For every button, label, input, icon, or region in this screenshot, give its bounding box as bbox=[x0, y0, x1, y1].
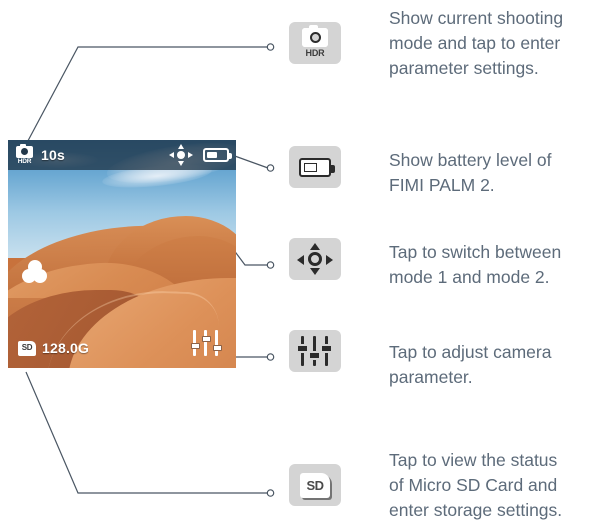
osd-right-group bbox=[170, 145, 229, 165]
leader-line-shooting-mode bbox=[22, 47, 268, 152]
sd-card-label: SD bbox=[306, 479, 323, 492]
annotation-text-shooting-mode: Show current shooting mode and tap to en… bbox=[389, 6, 613, 81]
osd-left-group: HDR 10s bbox=[15, 146, 65, 165]
leader-endpoint-gimbal bbox=[267, 262, 273, 268]
battery-icon bbox=[299, 158, 331, 177]
arrow-up-icon bbox=[310, 243, 320, 250]
arrow-left-icon bbox=[169, 152, 174, 158]
arrow-right-icon bbox=[188, 152, 193, 158]
timer-value: 10s bbox=[41, 147, 65, 163]
slider-track bbox=[215, 330, 218, 356]
slider-knob bbox=[298, 344, 307, 353]
filter-circle-right bbox=[33, 269, 47, 283]
slider-knob bbox=[322, 344, 331, 353]
leader-endpoint-shooting-mode bbox=[267, 44, 273, 50]
leader-line-sd-card bbox=[26, 372, 268, 493]
slider-knob bbox=[202, 336, 211, 342]
legend-icon-sd-card[interactable]: SD bbox=[289, 464, 341, 506]
arrow-down-icon bbox=[310, 268, 320, 275]
battery-icon[interactable] bbox=[203, 148, 229, 162]
battery-fill bbox=[207, 152, 217, 158]
slider-knob bbox=[213, 345, 222, 351]
gimbal-center-ring bbox=[308, 252, 322, 266]
battery-fill bbox=[304, 163, 317, 172]
camera-body-outline bbox=[302, 28, 328, 47]
leader-endpoint-battery bbox=[267, 165, 273, 171]
annotation-text-sd-card: Tap to view the status of Micro SD Card … bbox=[389, 448, 613, 523]
gimbal-center-dot bbox=[177, 151, 185, 159]
sd-card-icon: SD bbox=[18, 341, 36, 356]
leader-line-battery bbox=[232, 155, 268, 168]
sd-card-icon: SD bbox=[300, 473, 330, 498]
arrow-right-icon bbox=[326, 255, 333, 265]
legend-icon-battery[interactable] bbox=[289, 146, 341, 188]
leader-endpoint-sliders bbox=[267, 354, 273, 360]
sd-card-label: SD bbox=[22, 344, 33, 352]
camera-hdr-icon[interactable]: HDR bbox=[15, 146, 34, 165]
annotation-text-gimbal-mode: Tap to switch between mode 1 and mode 2. bbox=[389, 240, 613, 290]
arrow-down-icon bbox=[178, 161, 184, 166]
sliders-icon bbox=[299, 336, 331, 366]
legend-icon-sliders[interactable] bbox=[289, 330, 341, 372]
osd-top-bar: HDR 10s bbox=[8, 140, 236, 170]
hdr-label: HDR bbox=[18, 158, 31, 165]
arrow-up-icon bbox=[178, 144, 184, 149]
storage-status-group[interactable]: SD 128.0G bbox=[18, 340, 89, 356]
legend-icon-camera-hdr[interactable]: HDR bbox=[289, 22, 341, 64]
annotation-text-camera-parameter: Tap to adjust camera parameter. bbox=[389, 340, 613, 390]
gimbal-mode-icon bbox=[298, 244, 332, 274]
slider-knob bbox=[310, 351, 319, 360]
color-filter-icon[interactable] bbox=[22, 260, 48, 284]
leader-endpoint-sd-card bbox=[267, 490, 273, 496]
camera-preview-screen[interactable]: HDR 10s SD 128.0G bbox=[8, 140, 236, 368]
hdr-label: HDR bbox=[306, 48, 325, 58]
slider-knob bbox=[191, 343, 200, 349]
legend-icon-gimbal-mode[interactable] bbox=[289, 238, 341, 280]
annotation-text-battery-level: Show battery level of FIMI PALM 2. bbox=[389, 148, 613, 198]
slider-track bbox=[204, 330, 207, 356]
camera-icon bbox=[302, 28, 328, 47]
camera-hdr-icon: HDR bbox=[302, 28, 328, 58]
storage-capacity-value: 128.0G bbox=[42, 340, 89, 356]
gimbal-mode-icon[interactable] bbox=[170, 145, 192, 165]
arrow-left-icon bbox=[297, 255, 304, 265]
camera-icon bbox=[16, 146, 33, 158]
camera-parameter-sliders-icon[interactable] bbox=[192, 330, 220, 356]
